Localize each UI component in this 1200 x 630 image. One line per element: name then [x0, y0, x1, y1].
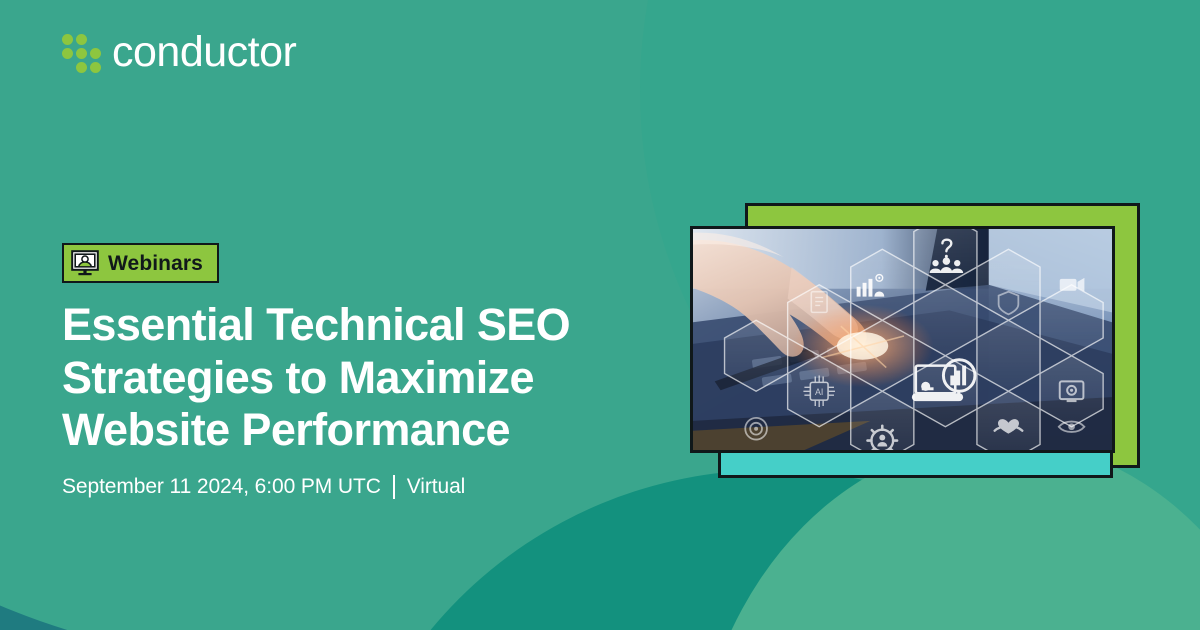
status-badge-webinars[interactable]: Webinars [62, 243, 219, 283]
hero-photo-illustration: AI [693, 229, 1112, 450]
event-meta: September 11 2024, 6:00 PM UTC Virtual [62, 475, 682, 499]
status-badge-label: Webinars [108, 253, 203, 274]
headline-line-1: Essential Technical SEO [62, 299, 570, 350]
page-title: Essential Technical SEO Strategies to Ma… [62, 299, 622, 457]
webinar-monitor-person-icon [71, 250, 99, 276]
headline-line-2: Strategies to Maximize [62, 352, 534, 403]
svg-text:AI: AI [815, 387, 823, 397]
promo-banner: conductor Webinars Essential Technical S… [0, 0, 1200, 630]
event-format: Virtual [407, 476, 465, 497]
event-datetime: September 11 2024, 6:00 PM UTC [62, 476, 381, 497]
content-block: Webinars Essential Technical SEO Strateg… [62, 243, 682, 499]
media-stack: AI [690, 195, 1160, 495]
brand-logo[interactable]: conductor [62, 31, 296, 74]
meta-divider [393, 475, 395, 499]
brand-wordmark: conductor [112, 31, 296, 74]
conductor-dots-logo-icon [62, 34, 98, 72]
hero-photo: AI [690, 226, 1115, 453]
headline-line-3: Website Performance [62, 404, 510, 455]
